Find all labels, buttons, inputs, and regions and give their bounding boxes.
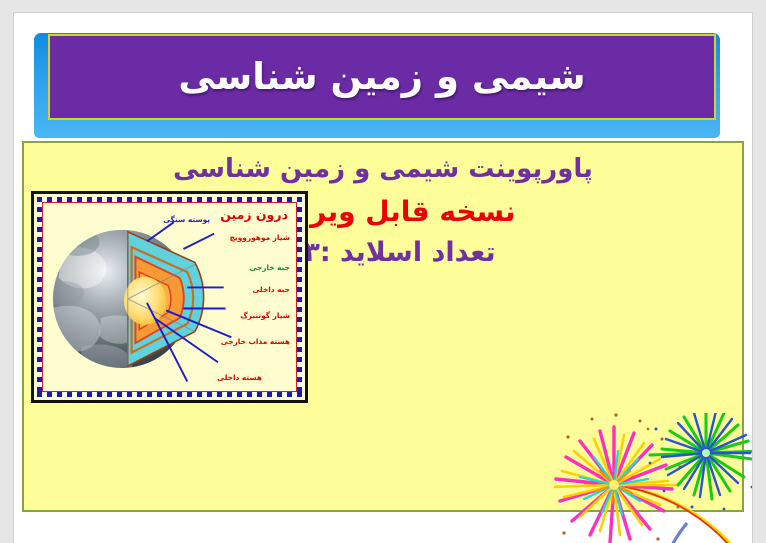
earth-label-outer-mantle: جبه خارجی bbox=[249, 263, 290, 272]
page-title: شیمی و زمین شناسی bbox=[178, 57, 585, 98]
earth-label-outer-core: هسته مذاب خارجی bbox=[221, 337, 290, 346]
earth-label-inner-core: هسته داخلی bbox=[217, 373, 262, 382]
fireworks-decoration bbox=[554, 413, 752, 543]
slide-canvas: شیمی و زمین شناسی پاورپوینت شیمی و زمین … bbox=[14, 13, 752, 543]
title-purple-box: شیمی و زمین شناسی bbox=[48, 34, 716, 120]
earth-label-moho: شیار موهوروویچ bbox=[230, 233, 290, 242]
firework-burst-left bbox=[554, 413, 682, 543]
figure-inner-area: درون زمین bbox=[42, 202, 297, 392]
earth-diagram-svg bbox=[43, 203, 296, 391]
earth-label-gutenberg: شیار گوتنبرگ bbox=[240, 311, 290, 320]
headline-product-title: پاورپوینت شیمی و زمین شناسی bbox=[24, 153, 742, 186]
earth-label-inner-mantle: جبه داخلی bbox=[252, 285, 290, 294]
firework-burst-right bbox=[649, 413, 752, 510]
earth-label-crust: پوسته سنگی bbox=[163, 215, 210, 224]
earth-cross-section-figure: درون زمین bbox=[31, 191, 308, 403]
